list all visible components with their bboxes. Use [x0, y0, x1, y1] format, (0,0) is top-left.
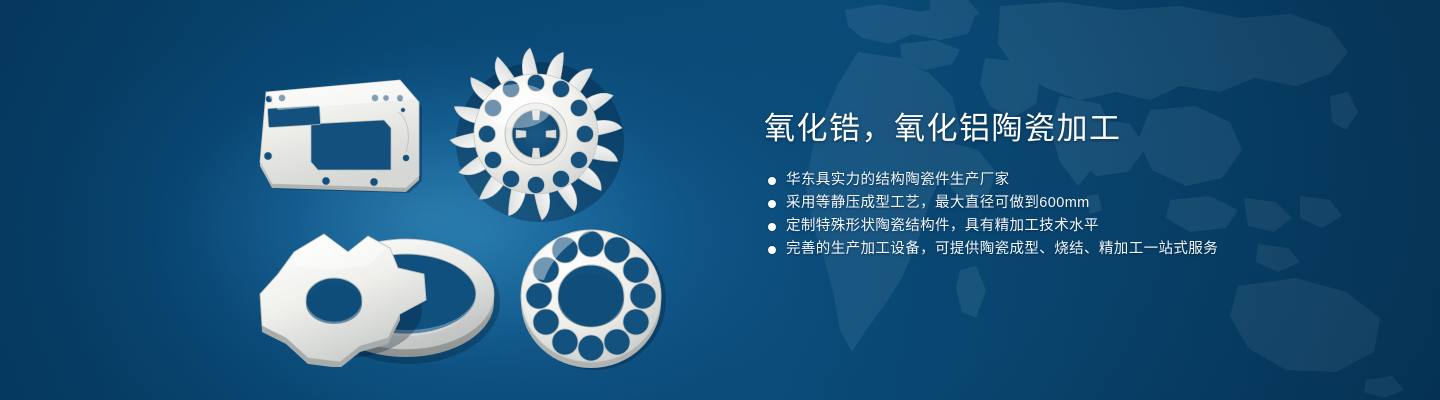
ceramic-cross-and-ring-part: [248, 222, 518, 367]
promo-banner: 氧化锆，氧化铝陶瓷加工 华东具实力的结构陶瓷件生产厂家 采用等静压成型工艺，最大…: [0, 0, 1440, 400]
bullet-dot-icon: [768, 223, 776, 231]
list-item: 定制特殊形状陶瓷结构件，具有精加工技术水平: [764, 215, 1324, 238]
feature-text: 定制特殊形状陶瓷结构件，具有精加工技术水平: [786, 215, 1099, 238]
bullet-dot-icon: [768, 246, 776, 254]
feature-text: 完善的生产加工设备，可提供陶瓷成型、烧结、精加工一站式服务: [786, 238, 1218, 261]
list-item: 华东具实力的结构陶瓷件生产厂家: [764, 169, 1324, 192]
bullet-dot-icon: [768, 200, 776, 208]
ceramic-plate-part: [248, 66, 438, 196]
list-item: 完善的生产加工设备，可提供陶瓷成型、烧结、精加工一站式服务: [764, 238, 1324, 261]
page-title: 氧化锆，氧化铝陶瓷加工: [764, 108, 1324, 150]
feature-list: 华东具实力的结构陶瓷件生产厂家 采用等静压成型工艺，最大直径可做到600mm 定…: [764, 169, 1324, 261]
list-item: 采用等静压成型工艺，最大直径可做到600mm: [764, 192, 1324, 215]
feature-text: 华东具实力的结构陶瓷件生产厂家: [786, 169, 1010, 192]
ceramic-impeller-part: [446, 44, 630, 228]
ceramic-disc-part: [508, 222, 676, 372]
banner-text-block: 氧化锆，氧化铝陶瓷加工 华东具实力的结构陶瓷件生产厂家 采用等静压成型工艺，最大…: [764, 108, 1324, 261]
bullet-dot-icon: [768, 177, 776, 185]
feature-text: 采用等静压成型工艺，最大直径可做到600mm: [786, 192, 1090, 215]
